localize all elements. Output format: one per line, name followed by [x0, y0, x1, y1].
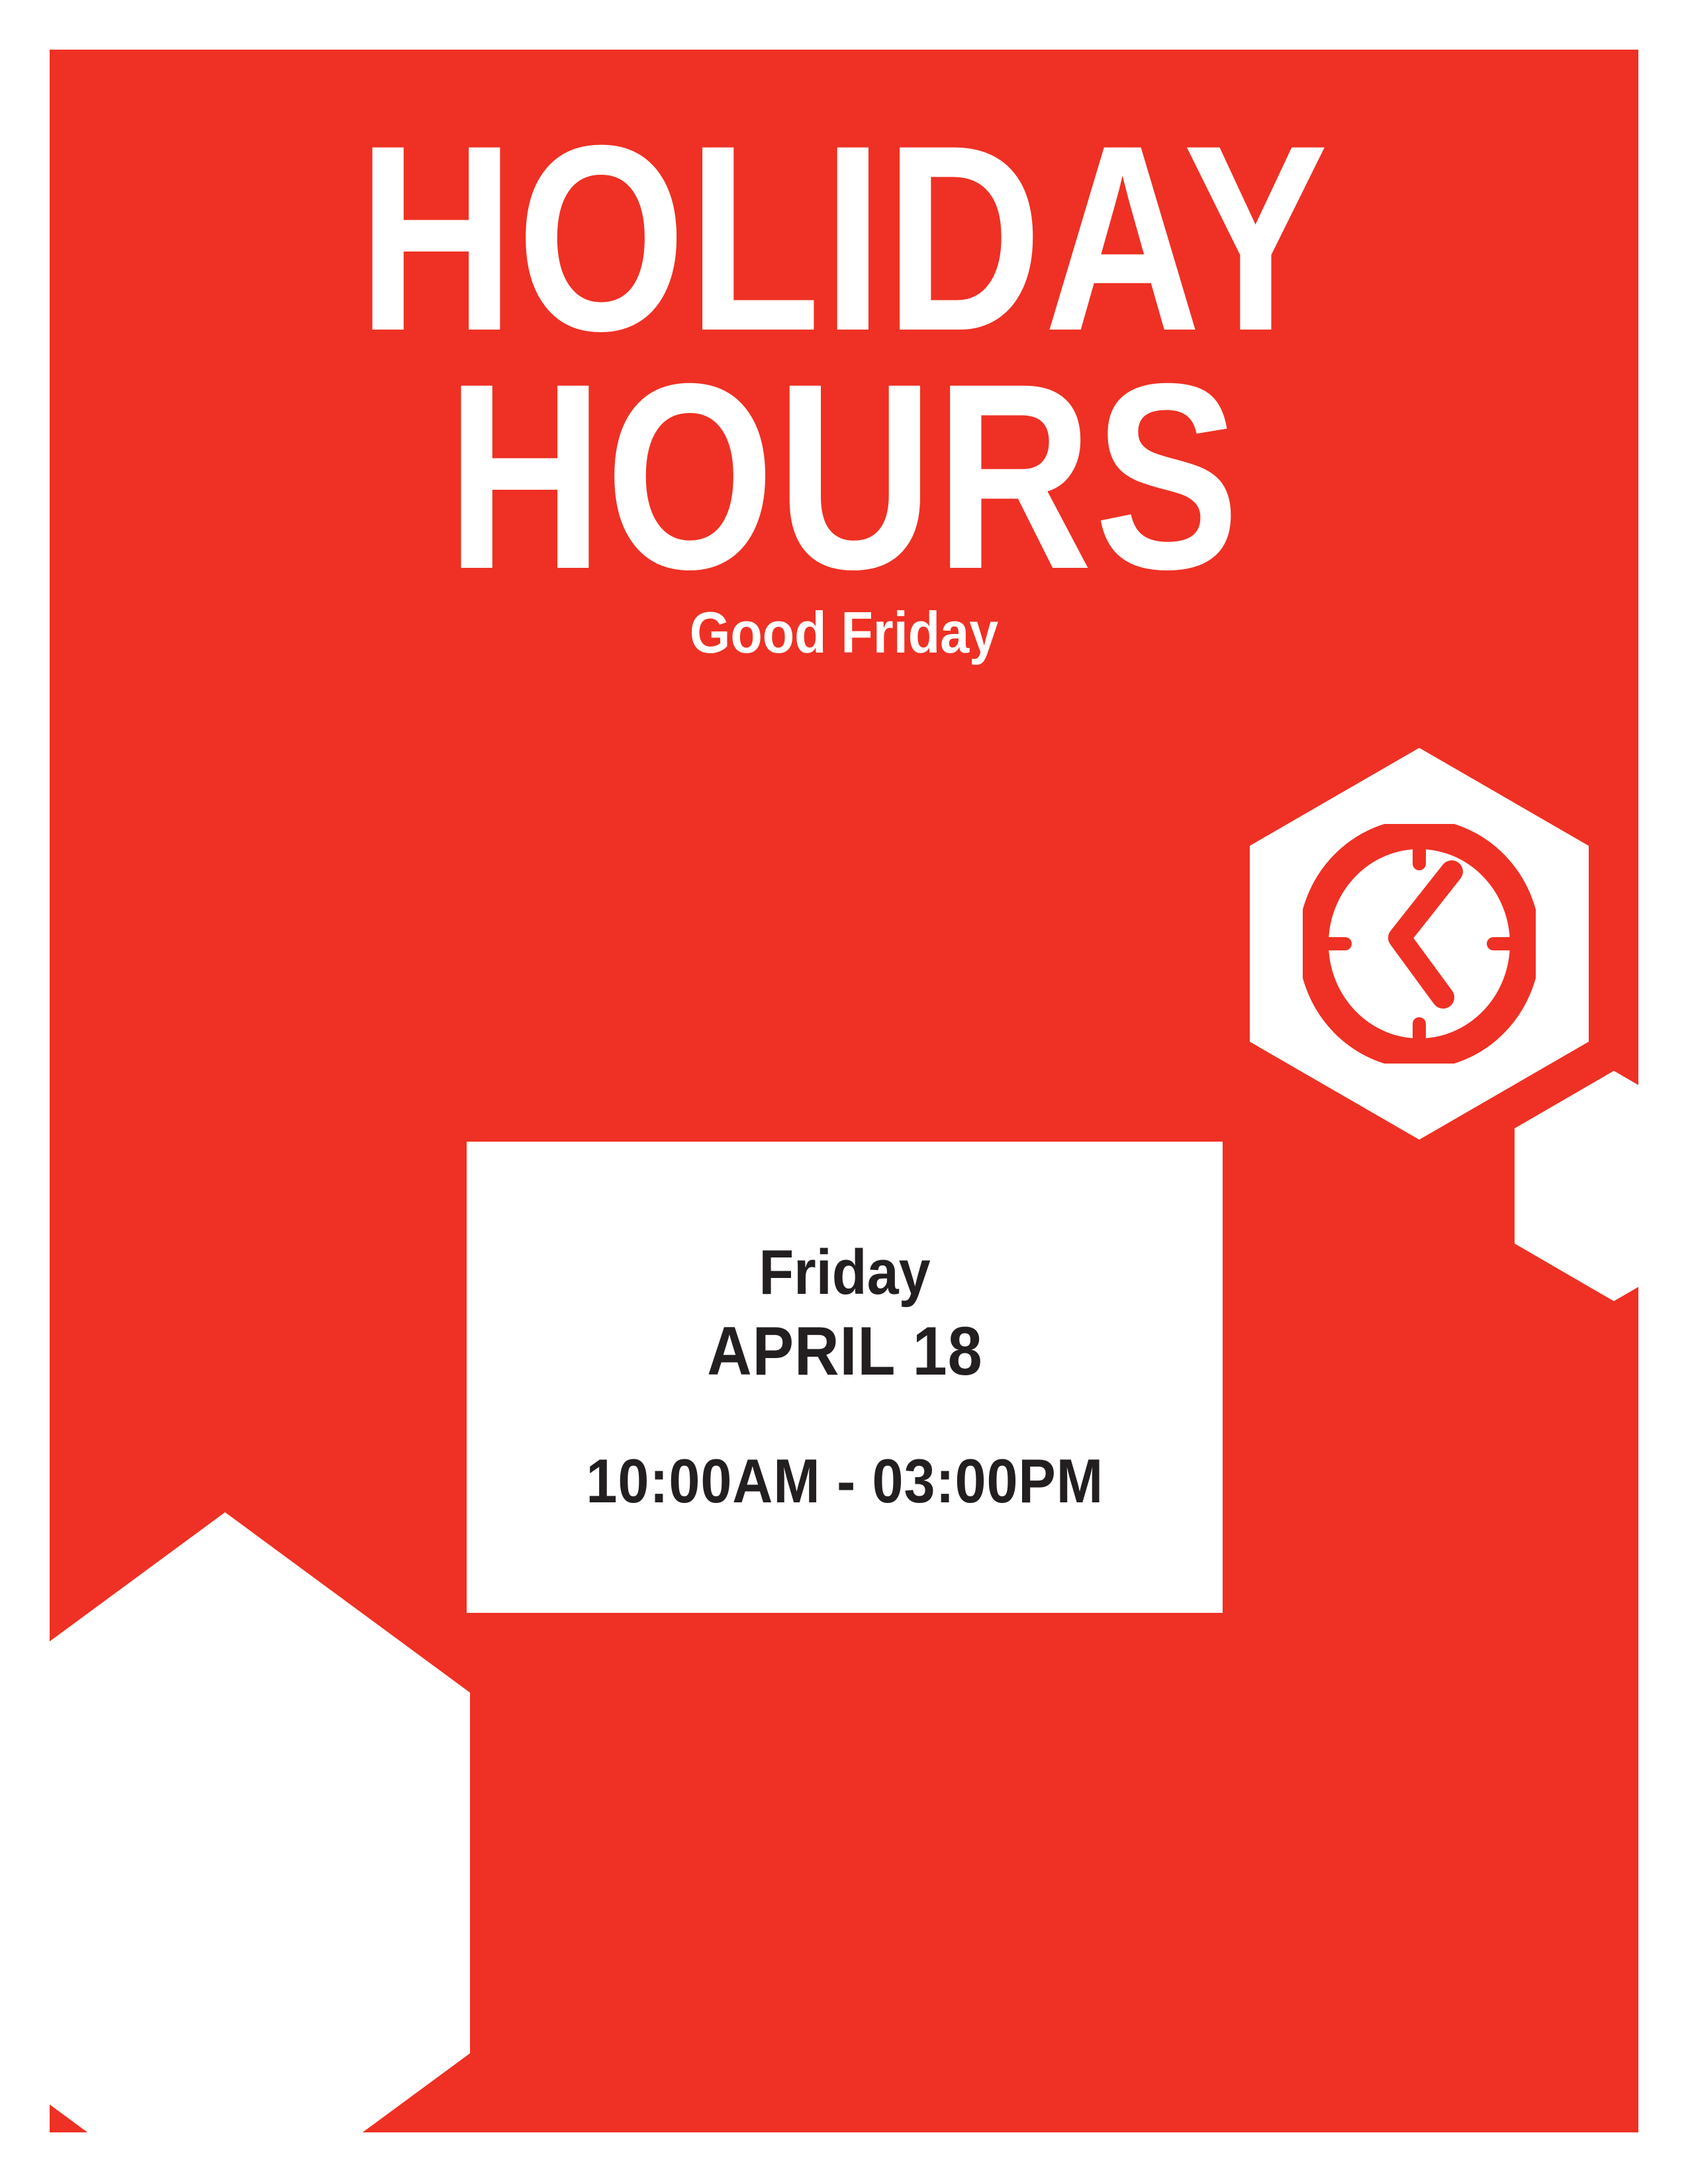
headline-line-1: HOLIDAY [193, 119, 1495, 357]
card-day-label: Friday [759, 1240, 930, 1306]
headline-line-2: HOURS [193, 357, 1495, 596]
card-time-range: 10:00AM - 03:00PM [586, 1449, 1103, 1514]
poster-subtitle: Good Friday [129, 604, 1559, 662]
card-date-label: APRIL 18 [707, 1316, 982, 1388]
poster-canvas: HOLIDAY HOURS Good Friday Friday APRIL 1… [0, 0, 1688, 2184]
hours-info-card: Friday APRIL 18 10:00AM - 03:00PM [467, 1142, 1223, 1613]
poster-headline: HOLIDAY HOURS [50, 119, 1638, 596]
clock-icon [1303, 824, 1536, 1064]
